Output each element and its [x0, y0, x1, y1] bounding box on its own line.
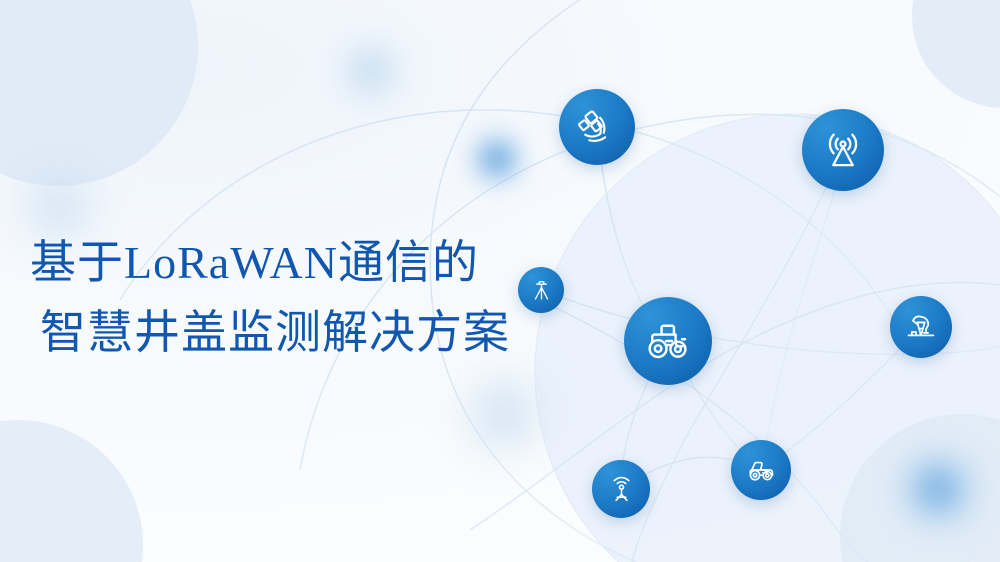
- slide-canvas: 基于LoRaWAN通信的 智慧井盖监测解决方案: [0, 0, 1000, 562]
- node-satellite[interactable]: [559, 89, 635, 165]
- title-line-2: 智慧井盖监测解决方案: [30, 298, 570, 368]
- radio-tower-icon: [817, 124, 869, 176]
- title-line-1: 基于LoRaWAN通信的: [30, 228, 570, 298]
- node-harvester[interactable]: [731, 440, 791, 500]
- node-tractor[interactable]: [624, 297, 712, 385]
- oil-pumpjack-icon: [901, 307, 941, 347]
- node-beacon[interactable]: [592, 460, 650, 518]
- node-antenna[interactable]: [802, 109, 884, 191]
- tractor-icon: [640, 313, 696, 369]
- harvester-icon: [742, 451, 780, 489]
- page-title: 基于LoRaWAN通信的 智慧井盖监测解决方案: [30, 228, 570, 368]
- satellite-dish-icon: [573, 103, 622, 152]
- node-oil-pump[interactable]: [890, 296, 952, 358]
- signal-beacon-icon: [603, 471, 640, 508]
